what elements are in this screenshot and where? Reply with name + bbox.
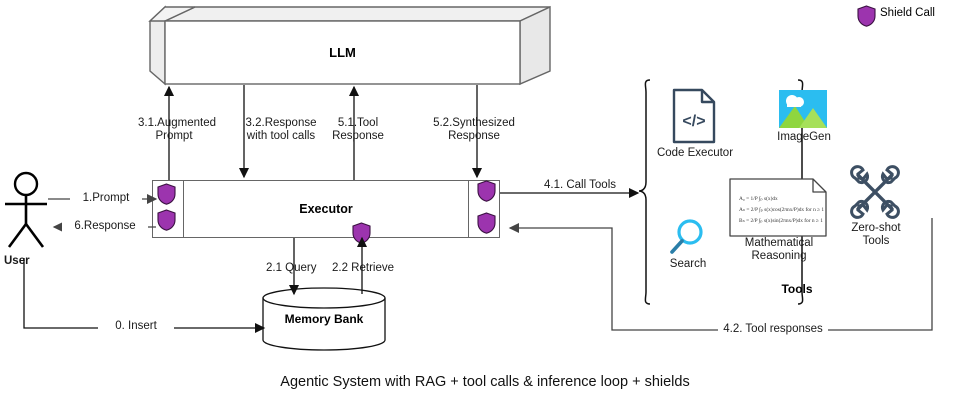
svg-text:</>: </> bbox=[682, 113, 705, 130]
shield-icon bbox=[477, 180, 496, 202]
edge-label-3-1: 3.1.Augmented Prompt bbox=[138, 117, 210, 143]
svg-text:A₀ = 1/P ∫ₚ s(x)dx: A₀ = 1/P ∫ₚ s(x)dx bbox=[739, 195, 778, 202]
edge-label-6-response: 6.Response bbox=[62, 220, 148, 233]
shield-icon bbox=[477, 212, 496, 234]
llm-label: LLM bbox=[165, 21, 520, 84]
edge-label-1-prompt: 1.Prompt bbox=[70, 192, 142, 205]
executor-node: Executor bbox=[152, 180, 500, 238]
code-document-icon: </> bbox=[672, 88, 716, 144]
tool-label-code-executor: Code Executor bbox=[650, 147, 740, 160]
crossed-wrenches-icon bbox=[849, 166, 901, 218]
edge-label-4-1-call-tools: 4.1. Call Tools bbox=[540, 179, 620, 192]
edge-label-2-1-query: 2.1 Query bbox=[266, 262, 317, 275]
legend-label: Shield Call bbox=[880, 7, 935, 19]
executor-label: Executor bbox=[153, 181, 499, 237]
edge-label-5-2: 5.2.Synthesized Response bbox=[427, 117, 521, 143]
tool-label-imagegen: ImageGen bbox=[763, 131, 845, 144]
edge-label-3-2: 3.2.Response with tool calls bbox=[238, 117, 324, 143]
edge-label-0-insert: 0. Insert bbox=[98, 320, 174, 333]
edge-label-5-1: 5.1.Tool Response bbox=[325, 117, 391, 143]
svg-text:Aₙ = 2/P ∫ₚ s(x)cos(2πnx/P)dx: Aₙ = 2/P ∫ₚ s(x)cos(2πnx/P)dx for n ≥ 1 bbox=[739, 206, 824, 213]
llm-node: LLM bbox=[150, 5, 550, 85]
diagram-caption: Agentic System with RAG + tool calls & i… bbox=[0, 374, 970, 390]
tool-responses-connector bbox=[500, 218, 940, 340]
shield-icon bbox=[857, 5, 876, 27]
image-icon bbox=[779, 90, 827, 128]
edge-label-4-2-tool-responses: 4.2. Tool responses bbox=[718, 323, 828, 336]
edge-label-2-2-retrieve: 2.2 Retrieve bbox=[332, 262, 394, 275]
